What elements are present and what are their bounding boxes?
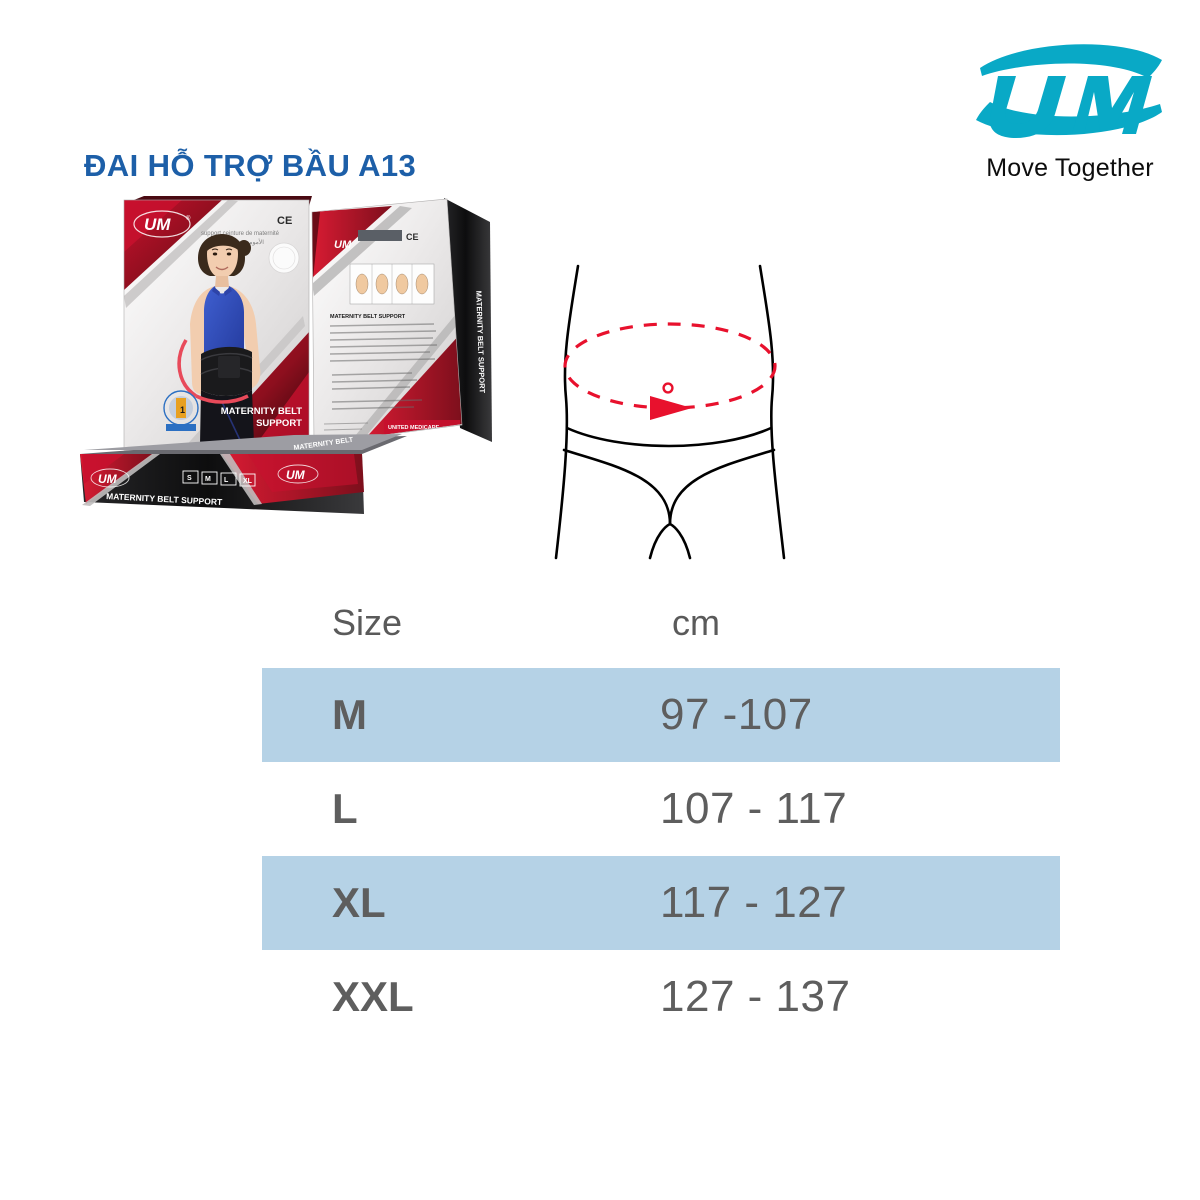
underwear-left-leg [564,450,670,524]
table-row: XL 117 - 127 [262,856,1060,950]
front-box-ce-mark: CE [277,215,292,227]
size-label-xl: XL [262,856,552,950]
size-label-xxl: XXL [262,950,552,1044]
logo-letter-m [1072,76,1152,134]
brand-tagline: Move Together [962,154,1178,183]
size-chart-header: Size cm [262,578,1060,668]
column-header-cm: cm [552,578,1060,668]
svg-text:S: S [187,475,192,482]
svg-text:®: ® [186,215,191,222]
brand-logo: Move Together [962,34,1178,194]
thigh-right-inner [670,524,690,558]
size-value-m: 97 -107 [552,668,1060,762]
um-logo-svg [962,34,1178,146]
front-box-product-name-line1: MATERNITY BELT [221,406,302,417]
back-box: MATERNITY BELT SUPPORT UM CE [312,198,492,444]
torso-left-outline [556,266,578,558]
size-label-l: L [262,762,552,856]
measure-direction-arrow [650,396,692,420]
size-chart-body: M 97 -107 L 107 - 117 XL 117 - 127 XXL 1… [262,668,1060,1044]
page-title: ĐAI HỖ TRỢ BẦU A13 [84,148,416,184]
svg-text:1: 1 [180,405,185,415]
logo-top-swoosh [980,44,1162,78]
underwear-right-leg [670,450,774,524]
svg-text:UM: UM [98,472,118,486]
back-box-heading: MATERNITY BELT SUPPORT [330,314,406,320]
svg-text:XL: XL [243,478,253,485]
front-box: UM ® CE support ceinture de maternité ال… [124,196,312,450]
svg-text:L: L [224,477,229,484]
size-value-l: 107 - 117 [552,762,1060,856]
column-header-size: Size [262,578,552,668]
table-header-row: Size cm [262,578,1060,668]
back-box-logo: UM [334,239,352,251]
um-logo-mark [962,34,1178,146]
waist-diagram-svg [520,238,820,578]
navel-marker [664,384,673,393]
size-value-xxl: 127 - 137 [552,950,1060,1044]
size-chart-table: Size cm M 97 -107 L 107 - 117 XL 117 - 1… [262,578,1060,1044]
packaging-svg: MATERNITY BELT SUPPORT UM CE [62,192,502,522]
back-box-ce-mark: CE [406,232,419,242]
back-box-company: UNITED MEDICARE [388,425,440,431]
svg-text:UM: UM [286,468,306,482]
front-box-product-name-line2: SUPPORT [256,418,302,429]
table-row: L 107 - 117 [262,762,1060,856]
thigh-left-inner [650,524,670,558]
waist-measurement-diagram [520,238,820,578]
size-label-m: M [262,668,552,762]
table-row: M 97 -107 [262,668,1060,762]
size-value-xl: 117 - 127 [552,856,1060,950]
waist-measure-ellipse [565,324,775,408]
size-chart: Size cm M 97 -107 L 107 - 117 XL 117 - 1… [262,578,1060,1044]
table-row: XXL 127 - 137 [262,950,1060,1044]
underwear-waistband [567,428,771,446]
svg-text:UM: UM [144,215,171,234]
svg-text:M: M [205,476,211,483]
torso-right-outline [760,266,784,558]
product-packaging-image: MATERNITY BELT SUPPORT UM CE [62,192,502,522]
